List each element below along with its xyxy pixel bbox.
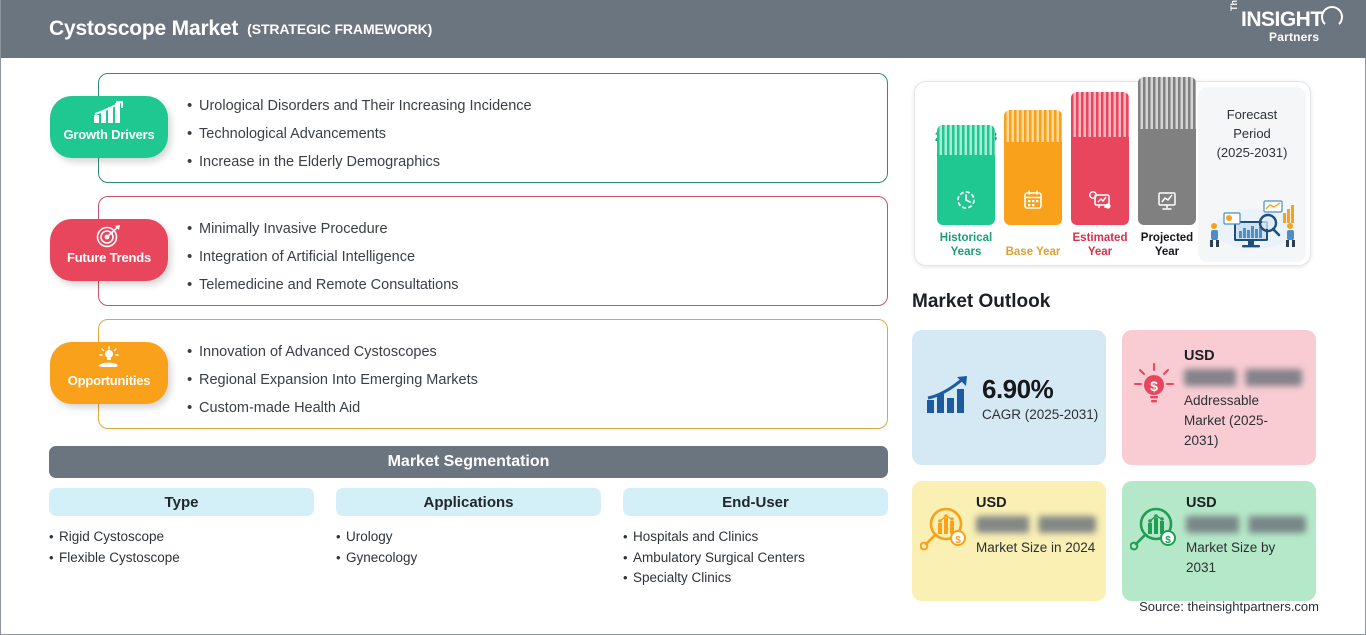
clock-history-icon [937, 189, 995, 211]
page-title: Cystoscope Market [49, 17, 238, 41]
bar-stripe-top [1004, 110, 1062, 142]
segmentation-column-applications: Applications Urology Gynecology [336, 488, 601, 568]
magnifier-chart-dollar-icon: $ [1130, 505, 1180, 556]
usd-label: USD [976, 495, 1096, 511]
insight-partners-logo: The INSIGHT Partners [1229, 6, 1349, 52]
opportunities-list: Innovation of Advanced Cystoscopes Regio… [187, 336, 478, 422]
list-item: Urological Disorders and Their Increasin… [187, 92, 532, 120]
list-item: Hospitals and Clinics [623, 527, 888, 548]
badge-opportunities[interactable]: Opportunities [50, 342, 168, 404]
list-item: Specialty Clinics [623, 568, 888, 589]
cagr-label: CAGR (2025-2031) [982, 407, 1098, 422]
bar-shape [1138, 77, 1196, 225]
forecast-period-box: Forecast Period (2025-2031) [1198, 87, 1306, 262]
badge-label: Growth Drivers [63, 127, 154, 142]
card-label: Market Size by 2031 [1186, 538, 1306, 578]
segmentation-items-applications: Urology Gynecology [336, 527, 601, 568]
list-item: Innovation of Advanced Cystoscopes [187, 338, 478, 366]
source-text: Source: theinsightpartners.com [1139, 599, 1319, 614]
bar-shape [937, 125, 995, 225]
timeline-bar-historical: 2021-2023 Historical Years [930, 87, 1002, 257]
blurred-value [1186, 516, 1306, 533]
market-segmentation-header: Market Segmentation [49, 446, 888, 478]
logo-arc-icon [1321, 6, 1343, 28]
badge-growth-drivers[interactable]: Growth Drivers [50, 96, 168, 158]
list-item: Rigid Cystoscope [49, 527, 314, 548]
badge-label: Opportunities [68, 373, 151, 388]
list-item: Custom-made Health Aid [187, 394, 478, 422]
logo-partners-text: Partners [1269, 30, 1319, 44]
bar-caption: Historical Years [930, 231, 1002, 259]
timeline-bar-projected: 2031 Projected Year [1131, 87, 1203, 257]
outlook-card-addressable-market: $ USD Addressable Market (2025-2031) [1122, 330, 1316, 465]
segmentation-header-applications[interactable]: Applications [336, 488, 601, 516]
panel-growth-drivers: Urological Disorders and Their Increasin… [98, 73, 888, 183]
blurred-value [976, 516, 1096, 533]
column-header-label: Type [165, 494, 199, 511]
bar-solid-body [1004, 142, 1062, 225]
list-item: Ambulatory Surgical Centers [623, 548, 888, 569]
bar-shape [1004, 110, 1062, 225]
forecast-title-line2: Period [1198, 124, 1306, 143]
bar-stripe-top [1071, 92, 1129, 137]
presentation-chart-icon [1138, 189, 1196, 211]
segmentation-column-type: Type Rigid Cystoscope Flexible Cystoscop… [49, 488, 314, 568]
card-label: Market Size in 2024 [976, 538, 1096, 558]
target-dart-icon [95, 224, 123, 248]
segmentation-title: Market Segmentation [388, 453, 550, 471]
logo-the-text: The [1229, 0, 1239, 11]
svg-text:$: $ [955, 535, 961, 546]
people-dashboard-illustration [1204, 193, 1300, 256]
bar-stripe-top [937, 125, 995, 155]
bar-caption: Projected Year [1131, 231, 1203, 259]
list-item: Telemedicine and Remote Consultations [187, 271, 459, 299]
list-item: Technological Advancements [187, 120, 532, 148]
market-outlook-title: Market Outlook [912, 291, 1050, 313]
list-item: Increase in the Elderly Demographics [187, 148, 532, 176]
timeline-bar-base: 2024 Base Year [997, 87, 1069, 257]
cagr-value: 6.90% [982, 374, 1098, 405]
segmentation-items-type: Rigid Cystoscope Flexible Cystoscope [49, 527, 314, 568]
analytics-gear-icon [1071, 189, 1129, 211]
list-item: Minimally Invasive Procedure [187, 215, 459, 243]
list-item: Integration of Artificial Intelligence [187, 243, 459, 271]
outlook-card-market-size-2031: $ USD Market Size by 2031 [1122, 481, 1316, 601]
segmentation-header-end-user[interactable]: End-User [623, 488, 888, 516]
forecast-text: Forecast Period (2025-2031) [1198, 105, 1306, 162]
list-item: Gynecology [336, 548, 601, 569]
outlook-card-market-size-2024: $ USD Market Size in 2024 [912, 481, 1106, 601]
badge-label: Future Trends [67, 250, 151, 265]
lightbulb-dollar-icon: $ [1132, 362, 1176, 413]
future-trends-list: Minimally Invasive Procedure Integration… [187, 213, 459, 299]
svg-text:$: $ [1165, 535, 1171, 546]
column-header-label: Applications [423, 494, 513, 511]
page-subtitle: (STRATEGIC FRAMEWORK) [247, 21, 432, 37]
usd-label: USD [1184, 348, 1302, 364]
bar-caption: Estimated Year [1064, 231, 1136, 259]
timeline-bar-estimated: 2025 Estimated Year [1064, 87, 1136, 257]
outlook-card-cagr: 6.90% CAGR (2025-2031) [912, 330, 1106, 465]
lightbulb-hand-icon [93, 347, 125, 371]
panel-opportunities: Innovation of Advanced Cystoscopes Regio… [98, 319, 888, 429]
forecast-range: (2025-2031) [1198, 143, 1306, 162]
list-item: Regional Expansion Into Emerging Markets [187, 366, 478, 394]
bar-solid-body [1138, 129, 1196, 225]
calendar-icon [1004, 189, 1062, 211]
list-item: Flexible Cystoscope [49, 548, 314, 569]
svg-text:$: $ [1150, 378, 1158, 394]
column-header-label: End-User [722, 494, 789, 511]
segmentation-items-end-user: Hospitals and Clinics Ambulatory Surgica… [623, 527, 888, 589]
list-item: Urology [336, 527, 601, 548]
magnifier-chart-dollar-icon: $ [920, 505, 970, 556]
header-bar: Cystoscope Market (STRATEGIC FRAMEWORK) … [1, 0, 1366, 58]
forecast-title-line1: Forecast [1198, 105, 1306, 124]
logo-insight-text: INSIGHT [1241, 8, 1323, 32]
segmentation-column-end-user: End-User Hospitals and Clinics Ambulator… [623, 488, 888, 589]
card-label: Addressable Market (2025-2031) [1184, 391, 1302, 451]
infographic-canvas: Cystoscope Market (STRATEGIC FRAMEWORK) … [0, 0, 1366, 635]
bar-stripe-top [1138, 77, 1196, 129]
growth-drivers-list: Urological Disorders and Their Increasin… [187, 90, 532, 176]
badge-future-trends[interactable]: Future Trends [50, 219, 168, 281]
market-timeline-chart: 2021-2023 Historical Years 2024 [914, 81, 1311, 266]
panel-future-trends: Minimally Invasive Procedure Integration… [98, 196, 888, 306]
bar-caption: Base Year [997, 245, 1069, 259]
usd-label: USD [1186, 495, 1306, 511]
bar-chart-growth-icon [92, 101, 126, 125]
bar-solid-body [937, 155, 995, 225]
bar-chart-arrow-icon [924, 374, 972, 421]
blurred-value [1184, 369, 1302, 386]
segmentation-header-type[interactable]: Type [49, 488, 314, 516]
bar-solid-body [1071, 137, 1129, 225]
bar-shape [1071, 92, 1129, 225]
